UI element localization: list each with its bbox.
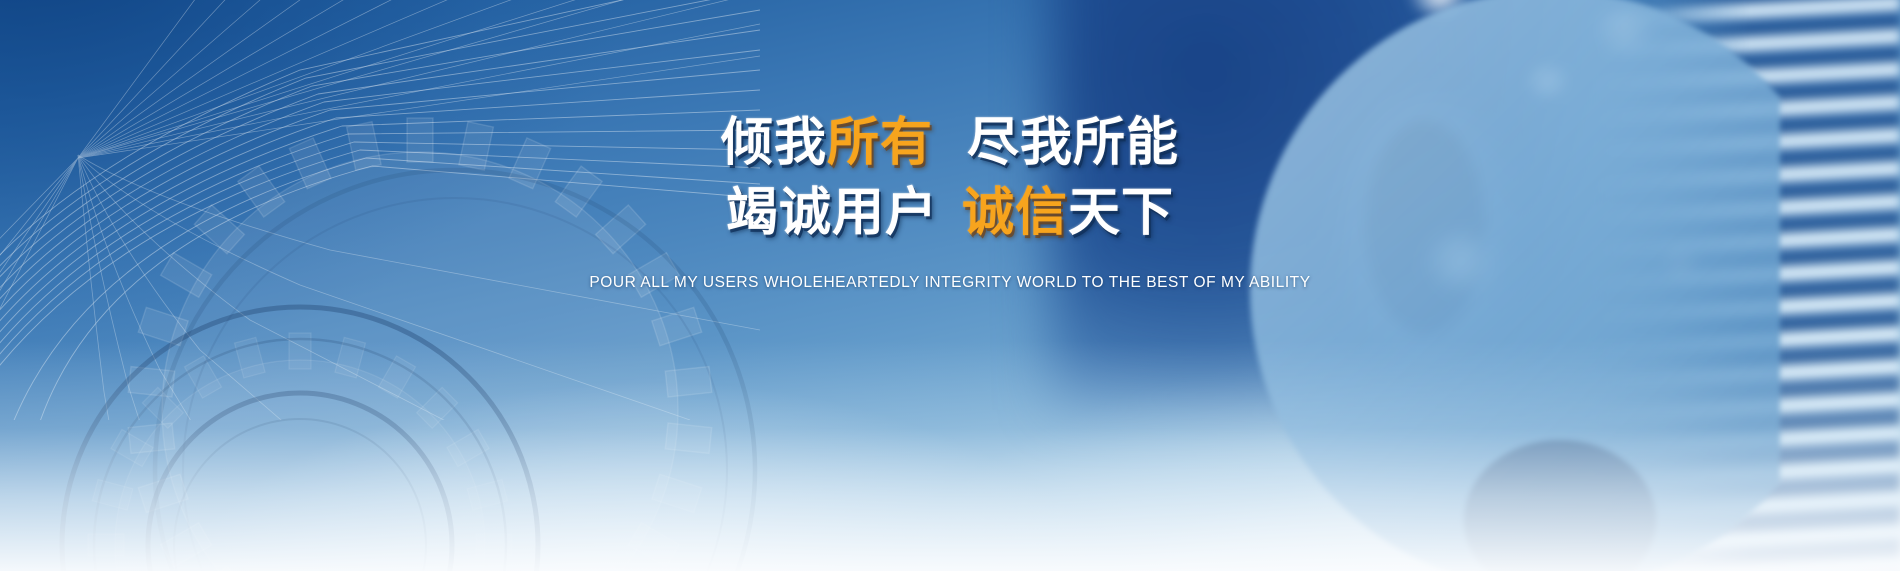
banner-copy: 倾我所有尽我所能 竭诚用户诚信天下 POUR ALL MY USERS WHOL…: [0, 112, 1900, 292]
hero-banner: 倾我所有尽我所能 竭诚用户诚信天下 POUR ALL MY USERS WHOL…: [0, 0, 1900, 571]
headline-l1-seg-1: 倾我: [721, 112, 827, 174]
headline-line-2: 竭诚用户诚信天下: [0, 182, 1900, 244]
banner-subtitle: POUR ALL MY USERS WHOLEHEARTEDLY INTEGRI…: [0, 274, 1900, 292]
headline-l2-seg-1: 竭诚用户: [726, 182, 938, 244]
headline-l2-seg-2: 诚信: [962, 182, 1068, 244]
headline-l1-seg-3: 尽我所能: [967, 112, 1179, 174]
headline-line-1: 倾我所有尽我所能: [0, 112, 1900, 174]
headline-l1-seg-2: 所有: [827, 112, 933, 174]
headline-l2-seg-3: 天下: [1068, 182, 1174, 244]
